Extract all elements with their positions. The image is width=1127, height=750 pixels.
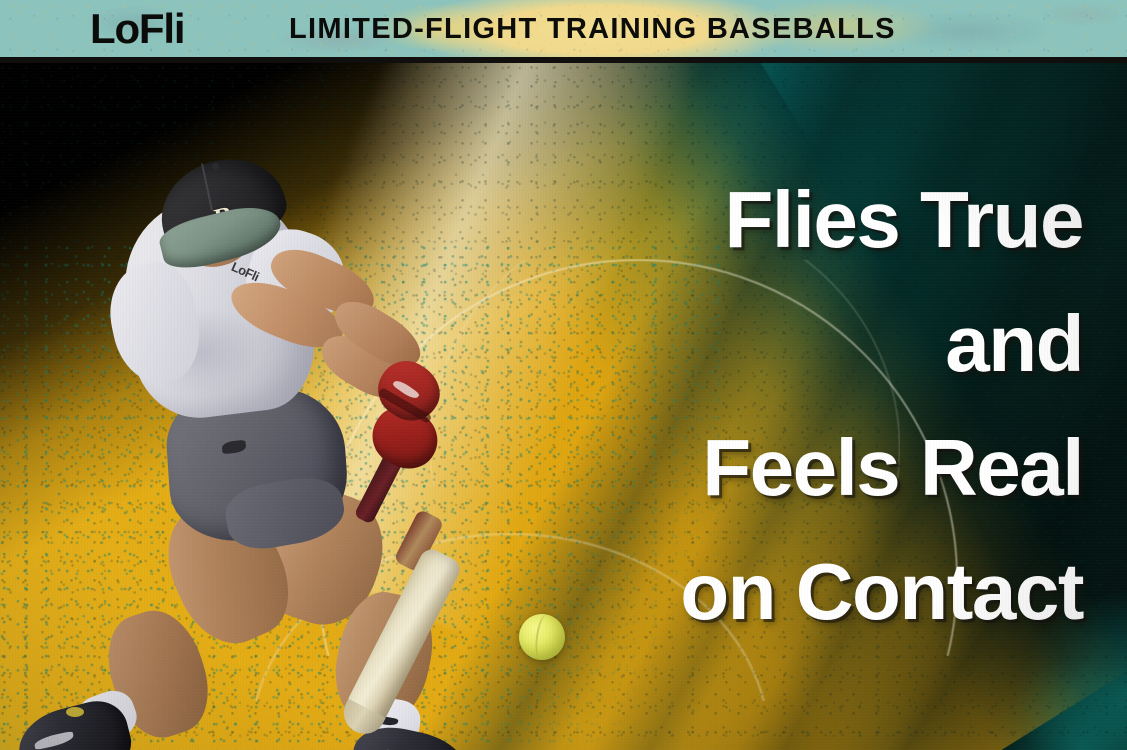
headline-line-1: Flies True: [560, 158, 1083, 282]
headline-block: Flies True and Feels Real on Contact: [560, 158, 1105, 654]
shoe-lace-detail: [66, 707, 84, 717]
header-divider-rule: [0, 57, 1127, 63]
header-bar: LoFli LIMITED-FLIGHT TRAINING BASEBALLS: [0, 0, 1127, 57]
headline-line-2: and: [560, 282, 1083, 406]
brand-logo[interactable]: LoFli: [90, 6, 184, 52]
hero-artwork: LoFli R: [0, 63, 1127, 750]
headline-line-3: Feels Real: [560, 406, 1083, 530]
ad-banner: LoFli LIMITED-FLIGHT TRAINING BASEBALLS: [0, 0, 1127, 750]
cap-button-detail: [212, 163, 219, 170]
headline-line-4: on Contact: [560, 530, 1083, 654]
header-tagline: LIMITED-FLIGHT TRAINING BASEBALLS: [289, 13, 896, 45]
